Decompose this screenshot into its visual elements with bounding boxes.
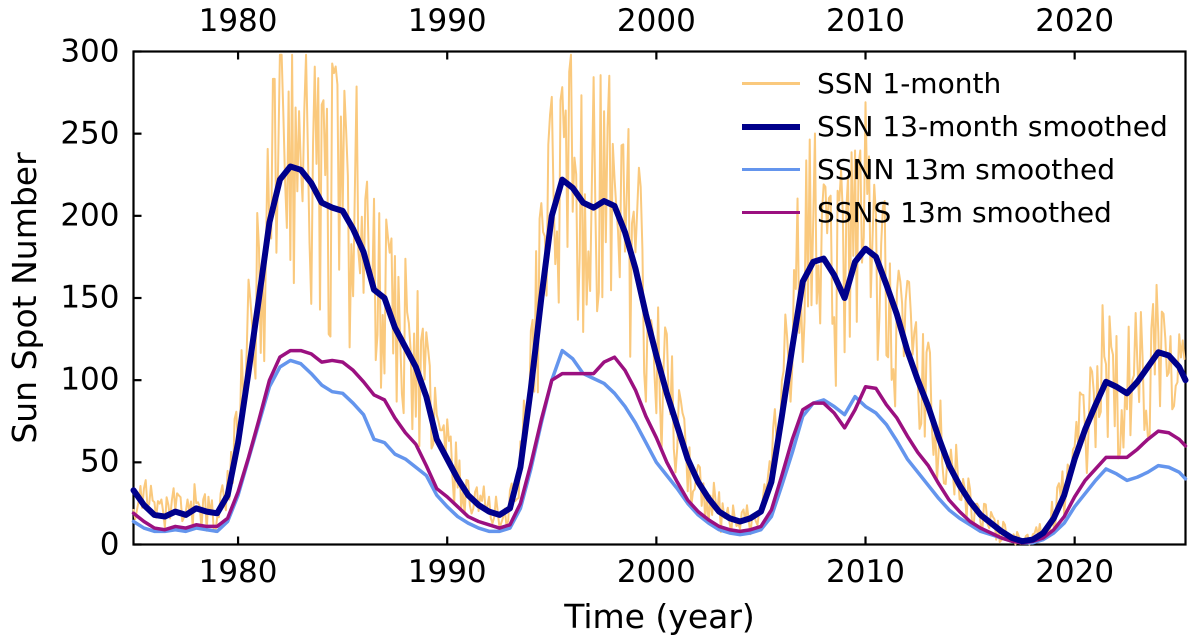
legend-label-ssn_monthly: SSN 1-month: [817, 70, 1001, 98]
legend-item-ssn_monthly[interactable]: SSN 1-month: [742, 62, 1168, 105]
legend-label-ssn_north: SSNN 13m smoothed: [817, 156, 1115, 184]
legend-swatch-ssn_south: [742, 211, 800, 214]
sunspot-chart-figure: 19801990200020102020 1980199020002010202…: [0, 0, 1200, 639]
legend-item-ssn_smoothed[interactable]: SSN 13-month smoothed: [742, 105, 1168, 148]
legend-swatch-ssn_north: [742, 168, 800, 171]
legend-item-ssn_north[interactable]: SSNN 13m smoothed: [742, 148, 1168, 191]
legend-swatch-ssn_smoothed: [742, 124, 800, 130]
legend-label-ssn_smoothed: SSN 13-month smoothed: [817, 113, 1168, 141]
legend-swatch-ssn_monthly: [742, 82, 800, 85]
legend-item-ssn_south[interactable]: SSNS 13m smoothed: [742, 191, 1168, 234]
chart-legend: SSN 1-monthSSN 13-month smoothedSSNN 13m…: [742, 62, 1168, 234]
legend-label-ssn_south: SSNS 13m smoothed: [817, 199, 1112, 227]
